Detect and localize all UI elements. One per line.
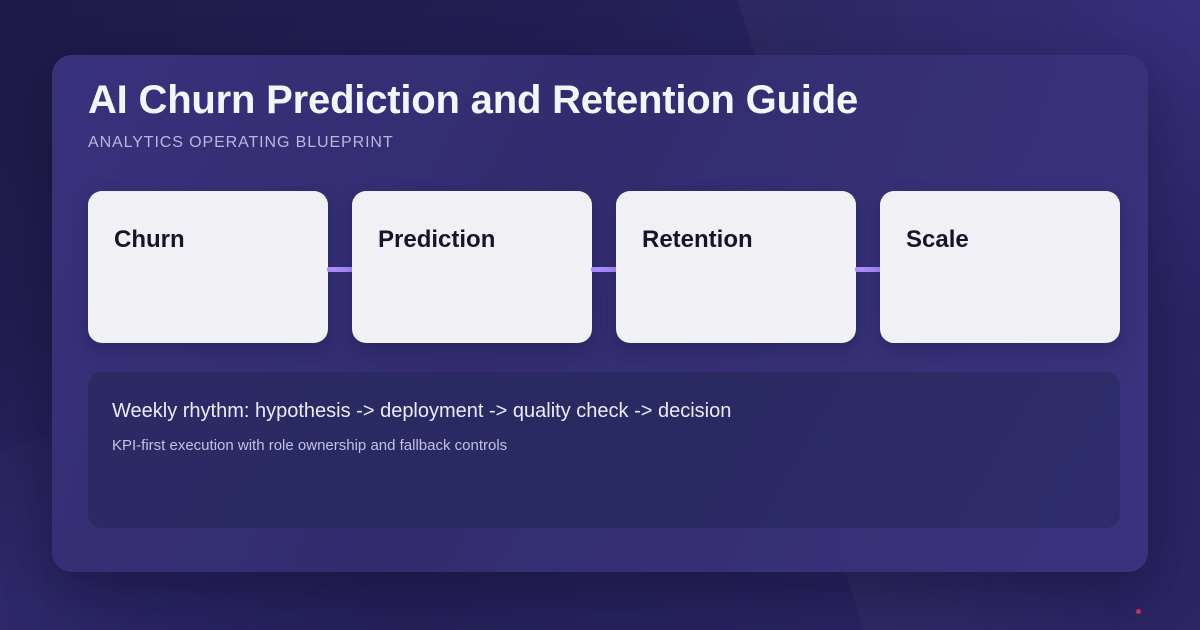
summary-secondary-text: KPI-first execution with role ownership … <box>112 436 507 456</box>
stage-card-prediction[interactable]: Prediction <box>352 191 592 343</box>
slide-canvas: AI Churn Prediction and Retention Guide … <box>0 0 1200 630</box>
stage-card-label: Prediction <box>378 225 495 255</box>
stage-connector-1 <box>327 267 353 272</box>
summary-primary-text: Weekly rhythm: hypothesis -> deployment … <box>112 398 731 424</box>
stage-flow: Churn Prediction Retention Scale <box>88 191 1120 343</box>
accent-dot <box>1136 609 1141 614</box>
stage-card-retention[interactable]: Retention <box>616 191 856 343</box>
stage-card-label: Retention <box>642 225 753 255</box>
stage-card-churn[interactable]: Churn <box>88 191 328 343</box>
stage-card-label: Churn <box>114 225 185 255</box>
stage-connector-3 <box>855 267 881 272</box>
page-title: AI Churn Prediction and Retention Guide <box>88 74 1108 126</box>
stage-card-scale[interactable]: Scale <box>880 191 1120 343</box>
content-panel: AI Churn Prediction and Retention Guide … <box>52 55 1148 572</box>
page-subtitle: ANALYTICS OPERATING BLUEPRINT <box>88 126 1108 153</box>
stage-card-label: Scale <box>906 225 969 255</box>
summary-panel: Weekly rhythm: hypothesis -> deployment … <box>88 372 1120 528</box>
stage-connector-2 <box>591 267 617 272</box>
header: AI Churn Prediction and Retention Guide … <box>88 74 1108 153</box>
